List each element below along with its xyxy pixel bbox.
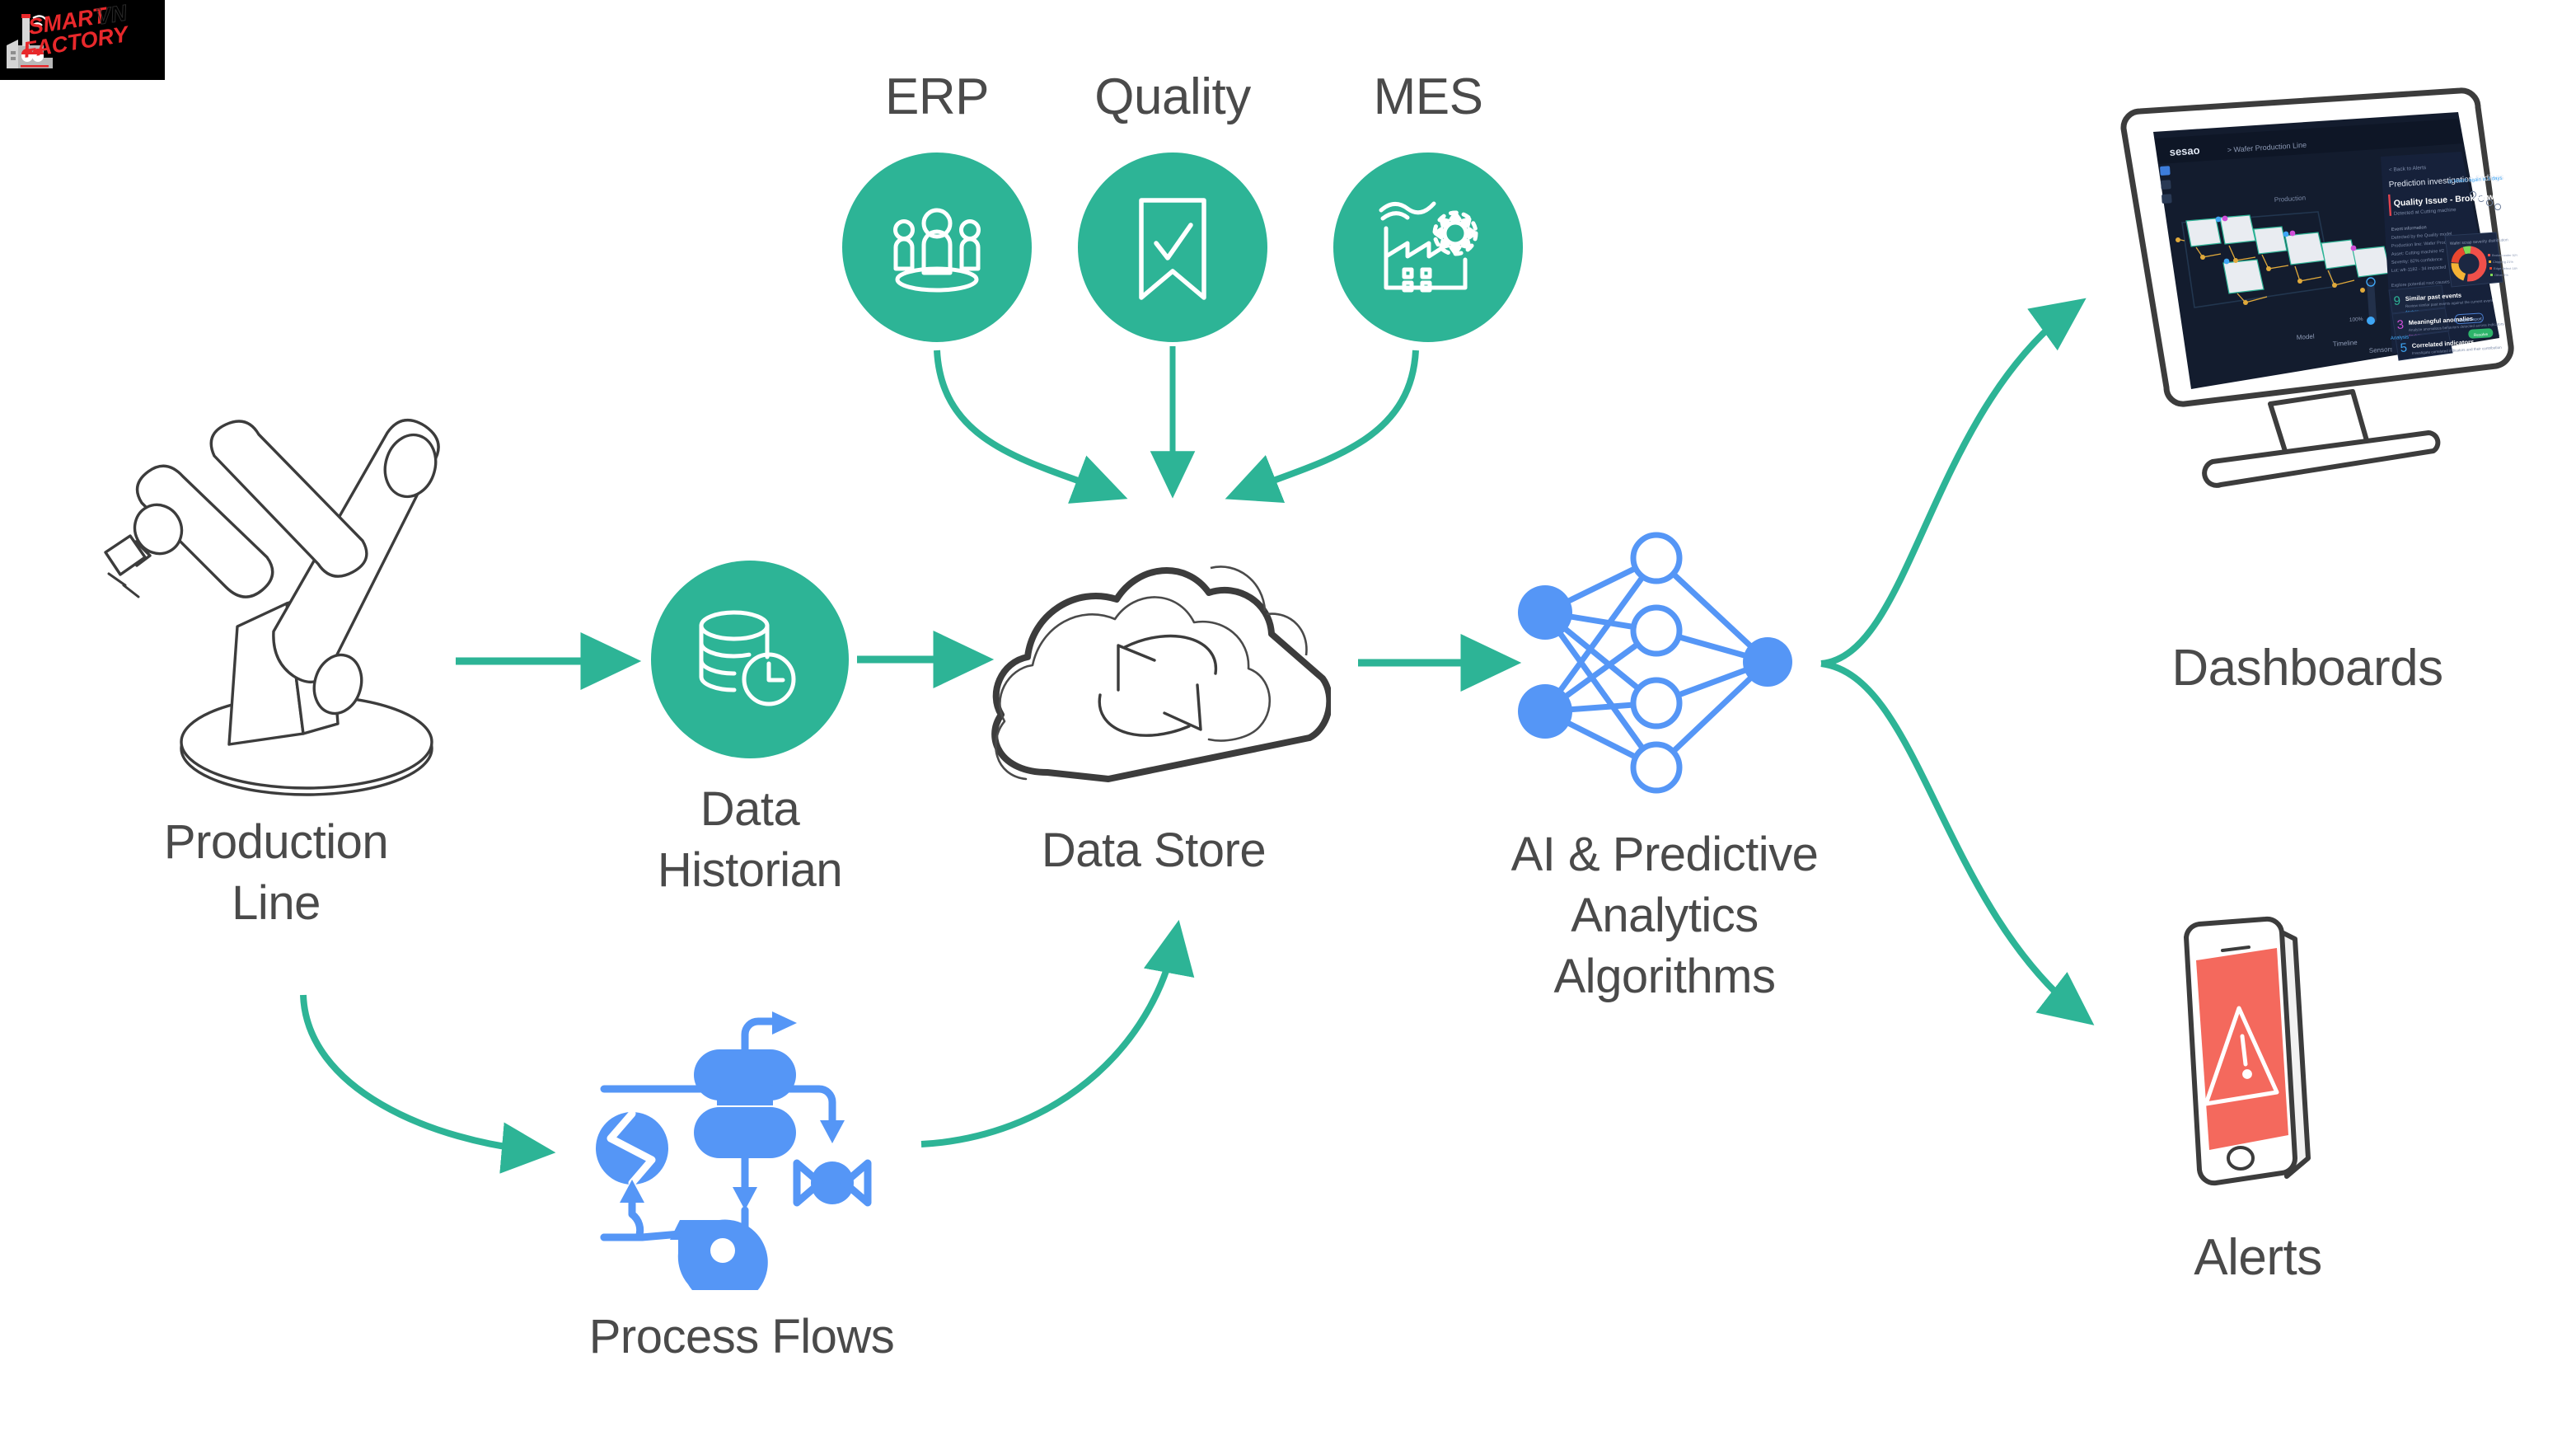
- source-node-mes[interactable]: [1333, 153, 1523, 342]
- panel-card-count: 5: [2400, 340, 2407, 355]
- svg-text:Model: Model: [2297, 333, 2316, 341]
- nn-hidden-node: [1633, 535, 1679, 581]
- dashboard-zoom-value: 100%: [2349, 317, 2363, 323]
- connector-process-flows-to-data-store: [921, 931, 1177, 1144]
- svg-text:Broken wafer 52%: Broken wafer 52%: [2492, 253, 2517, 257]
- connector-production-to-process-flows: [303, 995, 544, 1152]
- connector-ai-to-alerts: [1821, 664, 2085, 1018]
- neural-network-icon: [1504, 523, 1809, 795]
- panel-resolve-button[interactable]: Resolve: [2474, 332, 2489, 338]
- robot-arm-icon: [91, 379, 461, 808]
- bookmark-check-icon: [1123, 192, 1222, 303]
- source-label-erp: ERP: [838, 68, 1036, 126]
- connector-erp-to-data-store: [937, 350, 1117, 495]
- node-data-store[interactable]: [977, 532, 1331, 787]
- source-node-quality[interactable]: [1078, 153, 1267, 342]
- process-flow-diagram-icon: [581, 1010, 902, 1290]
- database-clock-icon: [696, 608, 803, 711]
- svg-text:Other 9%: Other 9%: [2494, 273, 2508, 277]
- node-label-production-line: Production Line: [111, 812, 441, 934]
- smart-factory-architecture-diagram: SMART FACTORY VN SMART FACTORY VN: [0, 0, 2576, 1450]
- people-group-icon: [883, 194, 991, 301]
- node-label-process-flows: Process Flows: [536, 1307, 948, 1368]
- nn-hidden-node: [1633, 608, 1679, 654]
- factory-gear-icon: [1373, 194, 1484, 301]
- panel-card-count: 9: [2393, 293, 2400, 308]
- node-production-line[interactable]: [91, 379, 461, 808]
- node-alerts[interactable]: [2163, 911, 2353, 1191]
- panel-card-count: 3: [2396, 317, 2404, 332]
- cloud-sync-icon: [977, 532, 1331, 787]
- node-ai-analytics[interactable]: [1504, 523, 1809, 795]
- nn-hidden-node: [1633, 744, 1679, 791]
- nn-hidden-node: [1633, 680, 1679, 726]
- connector-mes-to-data-store: [1236, 350, 1416, 495]
- nn-input-node: [1518, 684, 1572, 739]
- node-process-flows[interactable]: [581, 1010, 902, 1290]
- source-label-quality: Quality: [1074, 68, 1272, 126]
- node-label-data-store: Data Store: [989, 820, 1318, 881]
- svg-text:Chipping 21%: Chipping 21%: [2493, 260, 2513, 264]
- node-label-data-historian: Data Historian: [585, 779, 915, 901]
- dashboard-brand: sesao: [2169, 144, 2200, 158]
- nn-input-node: [1518, 585, 1572, 640]
- smartphone-warning-icon: [2163, 911, 2353, 1191]
- svg-text:Edge defect 18%: Edge defect 18%: [2494, 266, 2517, 270]
- connector-ai-to-dashboards: [1821, 305, 2077, 664]
- nn-output-node: [1743, 637, 1792, 687]
- node-label-dashboards: Dashboards: [2118, 639, 2497, 697]
- source-node-erp[interactable]: [842, 153, 1032, 342]
- node-label-ai-analytics: AI & Predictive Analytics Algorithms: [1475, 824, 1854, 1008]
- node-label-alerts: Alerts: [2159, 1228, 2357, 1287]
- node-data-historian[interactable]: [651, 561, 849, 758]
- desktop-monitor-icon: sesao > Wafer Production Line Production: [2105, 74, 2517, 602]
- source-label-mes: MES: [1329, 68, 1527, 126]
- node-dashboards[interactable]: sesao > Wafer Production Line Production: [2105, 74, 2517, 602]
